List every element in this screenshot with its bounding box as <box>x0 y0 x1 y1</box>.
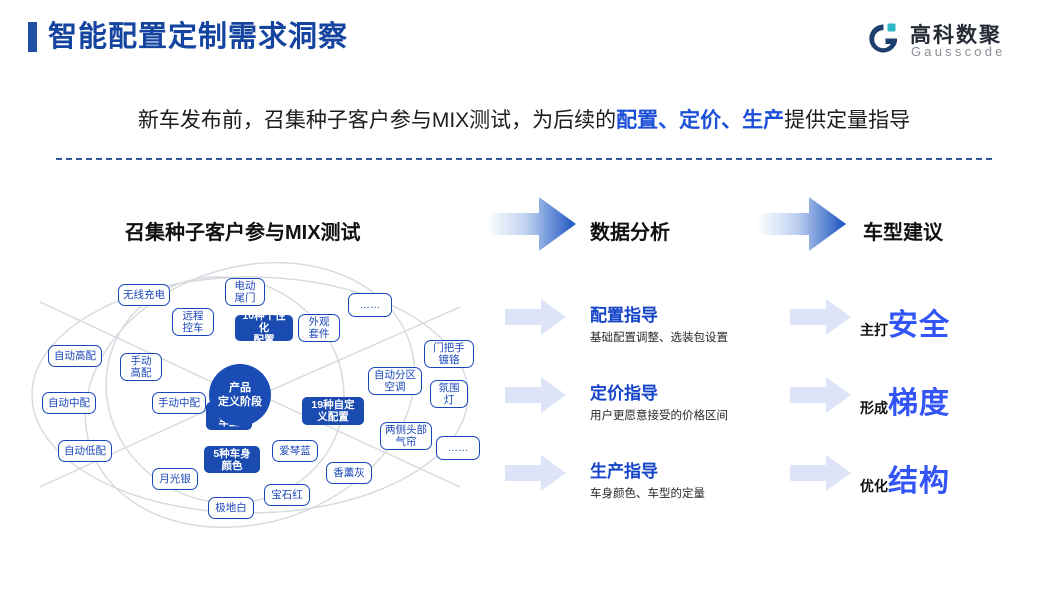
column-header-analysis: 数据分析 <box>590 216 670 245</box>
diagram-option-node: …… <box>348 293 392 317</box>
big-arrow-1-icon <box>487 195 577 253</box>
suggestion-structure: 优化结构 <box>860 456 950 500</box>
suggestion-keyword: 梯度 <box>888 387 950 420</box>
diagram-option-node: 极地白 <box>208 497 254 519</box>
analysis-subtitle: 车身颜色、车型的定量 <box>590 485 820 503</box>
diagram-option-node: 爱琴蓝 <box>272 440 318 462</box>
small-arrow-right-2-icon <box>790 376 852 414</box>
diagram-center-node: 产品 定义阶段 <box>209 364 271 426</box>
diagram-option-node: …… <box>436 436 480 460</box>
diagram-option-node: 氛围 灯 <box>430 380 468 408</box>
diagram-option-node: 手动 高配 <box>120 353 162 381</box>
diagram-option-node: 香薰灰 <box>326 462 372 484</box>
diagram-option-node: 自动低配 <box>58 440 112 462</box>
diagram-option-node: 手动中配 <box>152 392 206 414</box>
subtitle-part-2: 提供定量指导 <box>784 109 910 132</box>
brand-logo: 高科数聚 Gausscode <box>864 18 1024 64</box>
column-header-collect: 召集种子客户参与MIX测试 <box>125 216 361 245</box>
diagram-option-node: 自动分区 空调 <box>368 367 422 395</box>
diagram-summary-node: 5种车身 颜色 <box>204 446 260 473</box>
analysis-row-production: 生产指导 车身颜色、车型的定量 <box>590 461 820 503</box>
suggestion-keyword: 安全 <box>888 309 950 342</box>
analysis-subtitle: 基础配置调整、选装包设置 <box>590 329 820 347</box>
diagram-option-node: 自动高配 <box>48 345 102 367</box>
small-arrow-right-1-icon <box>790 298 852 336</box>
diagram-option-node: 门把手 镀铬 <box>424 340 474 368</box>
suggestion-prefix: 主打 <box>860 322 888 338</box>
section-divider <box>56 158 992 160</box>
subtitle-part-1: 新车发布前，召集种子客户参与MIX测试，为后续的 <box>138 109 616 132</box>
diagram-option-node: 外观 套件 <box>298 314 340 342</box>
suggestion-keyword: 结构 <box>888 465 950 498</box>
diagram-option-node: 远程 控车 <box>172 308 214 336</box>
small-arrow-left-1-icon <box>505 298 567 336</box>
suggestion-prefix: 形成 <box>860 400 888 416</box>
analysis-title: 定价指导 <box>590 383 820 405</box>
diagram-option-node: 宝石红 <box>264 484 310 506</box>
analysis-row-pricing: 定价指导 用户更愿意接受的价格区间 <box>590 383 820 425</box>
column-header-suggestion: 车型建议 <box>863 216 943 245</box>
suggestion-safety: 主打安全 <box>860 300 950 344</box>
suggestion-prefix: 优化 <box>860 478 888 494</box>
diagram-option-node: 两侧头部 气帘 <box>380 422 432 450</box>
logo-text-en: Gausscode <box>911 44 1006 59</box>
diagram-option-node: 无线充电 <box>118 284 170 306</box>
big-arrow-2-icon <box>757 195 847 253</box>
slide-root: 智能配置定制需求洞察 高科数聚 Gausscode 新车发布前，召集种子客户参与… <box>0 0 1048 589</box>
small-arrow-right-3-icon <box>790 454 852 492</box>
diagram-summary-node: 10种个性化 配置 <box>235 315 293 341</box>
subtitle-line: 新车发布前，召集种子客户参与MIX测试，为后续的配置、定价、生产提供定量指导 <box>0 105 1048 137</box>
analysis-title: 生产指导 <box>590 461 820 483</box>
diagram-option-node: 自动中配 <box>42 392 96 414</box>
subtitle-highlight: 配置、定价、生产 <box>616 109 784 132</box>
suggestion-tier: 形成梯度 <box>860 378 950 422</box>
diagram-option-node: 电动 尾门 <box>225 278 265 306</box>
small-arrow-left-3-icon <box>505 454 567 492</box>
product-definition-diagram: 产品 定义阶段 无线充电电动 尾门……远程 控车外观 套件自动高配手动 高配门把… <box>20 262 480 532</box>
analysis-subtitle: 用户更愿意接受的价格区间 <box>590 407 820 425</box>
analysis-row-config: 配置指导 基础配置调整、选装包设置 <box>590 305 820 347</box>
diagram-summary-node: 19种自定 义配置 <box>302 397 364 425</box>
slide-header: 智能配置定制需求洞察 高科数聚 Gausscode <box>0 0 1048 76</box>
title-accent-bar <box>28 22 37 52</box>
analysis-title: 配置指导 <box>590 305 820 327</box>
small-arrow-left-2-icon <box>505 376 567 414</box>
page-title: 智能配置定制需求洞察 <box>48 18 348 56</box>
diagram-option-node: 月光银 <box>152 468 198 490</box>
gausscode-g-mark-icon <box>864 22 900 56</box>
